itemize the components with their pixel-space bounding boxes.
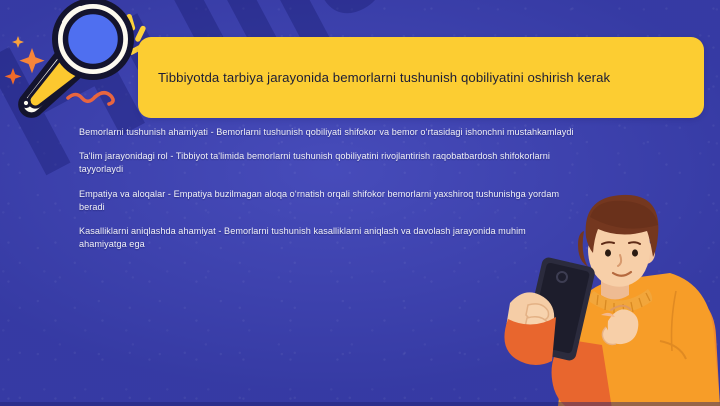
person-with-phone-illustration — [480, 191, 720, 406]
slide-bottom-edge — [0, 402, 720, 406]
magnifier-lens — [55, 1, 131, 77]
squiggle-icon — [68, 93, 113, 104]
body-paragraph: Bemorlarni tushunish ahamiyati - Bemorla… — [79, 126, 575, 139]
title-banner: Tibbiyotda tarbiya jarayonida bemorlarni… — [138, 37, 704, 118]
slide-canvas: Hujjat24 — [0, 0, 720, 406]
body-paragraph: Ta'lim jarayonidagi rol - Tibbiyot ta'li… — [79, 150, 575, 176]
page-title: Tibbiyotda tarbiya jarayonida bemorlarni… — [158, 69, 610, 87]
